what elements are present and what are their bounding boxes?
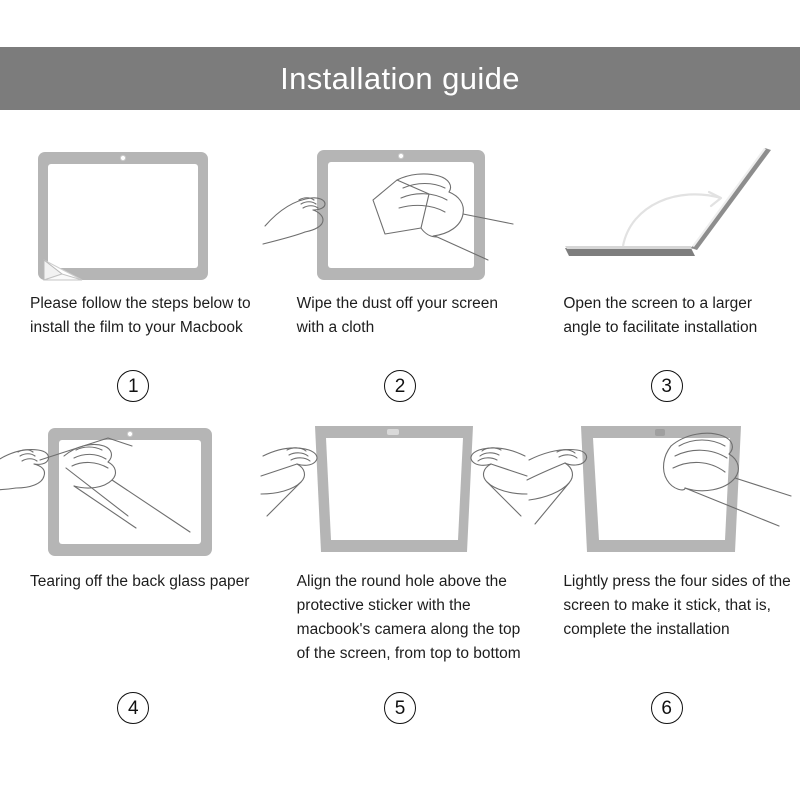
step-6-illustration (543, 420, 800, 570)
step-card-4: Tearing off the back glass paper 4 (0, 420, 267, 724)
step-card-1: Please follow the steps below to install… (0, 142, 267, 402)
step-5-illustration (277, 420, 543, 570)
page-title: Installation guide (280, 63, 520, 94)
step-number-badge-6: 6 (651, 692, 683, 724)
step-number-badge-1: 1 (117, 370, 149, 402)
step-3-caption: Open the screen to a larger angle to fac… (533, 292, 800, 364)
step-card-6: Lightly press the four sides of the scre… (533, 420, 800, 724)
step-2-caption: Wipe the dust off your screen with a clo… (267, 292, 534, 364)
step-1-illustration (14, 142, 280, 292)
step-number-badge-4: 4 (117, 692, 149, 724)
step-3-badge-row: 3 (533, 370, 800, 402)
step-4-illustration (4, 420, 270, 570)
step-2-badge-row: 2 (267, 370, 534, 402)
step-5-badge-row: 5 (267, 692, 534, 724)
step-number-badge-3: 3 (651, 370, 683, 402)
header-bar: Installation guide (0, 47, 800, 110)
step-4-badge-row: 4 (0, 692, 267, 724)
step-3-illustration (545, 142, 800, 292)
step-6-caption: Lightly press the four sides of the scre… (533, 570, 800, 690)
step-2-illustration (273, 142, 539, 292)
step-1-badge-row: 1 (0, 370, 267, 402)
step-1-caption: Please follow the steps below to install… (0, 292, 267, 364)
step-card-3: Open the screen to a larger angle to fac… (533, 142, 800, 402)
step-6-badge-row: 6 (533, 692, 800, 724)
step-5-caption: Align the round hole above the protectiv… (267, 570, 534, 690)
step-card-2: Wipe the dust off your screen with a clo… (267, 142, 534, 402)
step-number-badge-5: 5 (384, 692, 416, 724)
steps-row-bottom: Tearing off the back glass paper 4 (0, 420, 800, 724)
steps-row-top: Please follow the steps below to install… (0, 142, 800, 402)
step-4-caption: Tearing off the back glass paper (0, 570, 267, 690)
step-card-5: Align the round hole above the protectiv… (267, 420, 534, 724)
step-number-badge-2: 2 (384, 370, 416, 402)
installation-steps-grid: Please follow the steps below to install… (0, 120, 800, 724)
